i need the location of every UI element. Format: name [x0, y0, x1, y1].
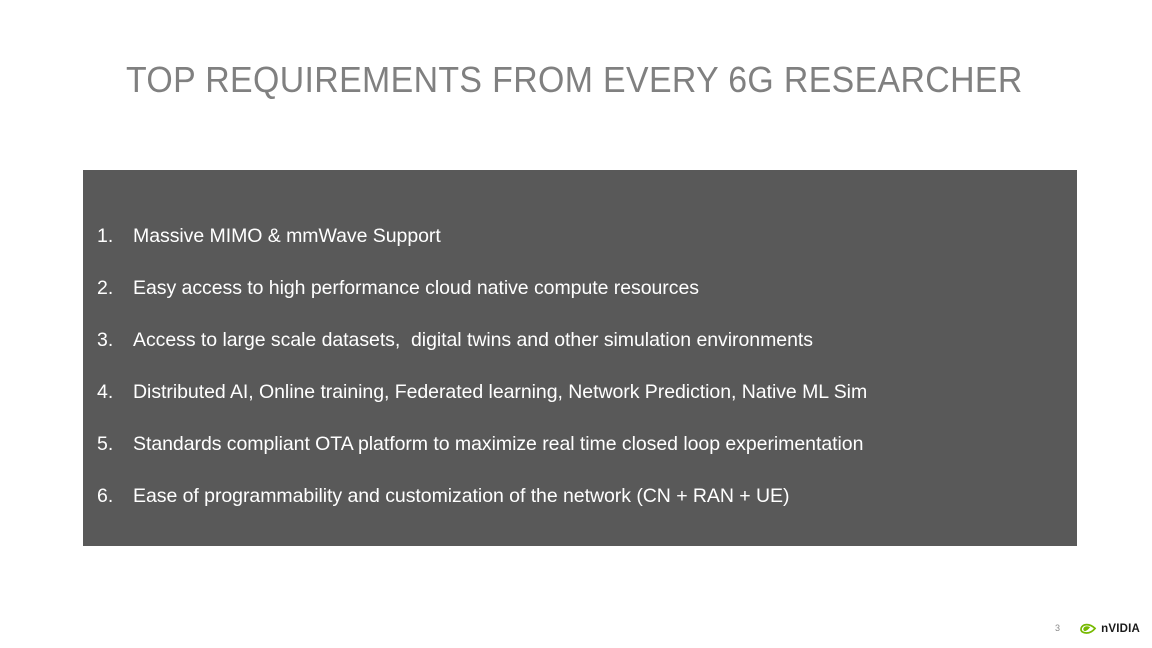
nvidia-logo: nVIDIA	[1078, 620, 1140, 637]
list-item-number: 5.	[97, 418, 133, 470]
list-item: 2. Easy access to high performance cloud…	[97, 262, 1071, 314]
list-item: 1. Massive MIMO & mmWave Support	[97, 210, 1071, 262]
list-item: 4. Distributed AI, Online training, Fede…	[97, 366, 1071, 418]
nvidia-wordmark: nVIDIA	[1101, 623, 1140, 635]
list-item-number: 2.	[97, 262, 133, 314]
page-title: TOP REQUIREMENTS FROM EVERY 6G RESEARCHE…	[126, 57, 972, 103]
page-number: 3	[1055, 623, 1060, 634]
list-item-label: Access to large scale datasets, digital …	[133, 314, 813, 366]
list-item-label: Easy access to high performance cloud na…	[133, 262, 699, 314]
list-item-number: 3.	[97, 314, 133, 366]
list-item-number: 6.	[97, 470, 133, 522]
list-item-number: 1.	[97, 210, 133, 262]
list-item: 6. Ease of programmability and customiza…	[97, 470, 1071, 522]
list-item: 3. Access to large scale datasets, digit…	[97, 314, 1071, 366]
list-item-label: Distributed AI, Online training, Federat…	[133, 366, 867, 418]
list-item-number: 4.	[97, 366, 133, 418]
nvidia-wordmark-rest: VIDIA	[1108, 623, 1140, 635]
list-item-label: Ease of programmability and customizatio…	[133, 470, 789, 522]
list-item-label: Standards compliant OTA platform to maxi…	[133, 418, 863, 470]
nvidia-eye-icon	[1078, 622, 1098, 636]
slide-canvas: TOP REQUIREMENTS FROM EVERY 6G RESEARCHE…	[0, 0, 1152, 648]
requirements-panel: 1. Massive MIMO & mmWave Support 2. Easy…	[83, 170, 1077, 546]
requirements-list: 1. Massive MIMO & mmWave Support 2. Easy…	[97, 210, 1071, 522]
slide-footer: 3 nVIDIA	[0, 604, 1152, 648]
list-item-label: Massive MIMO & mmWave Support	[133, 210, 441, 262]
list-item: 5. Standards compliant OTA platform to m…	[97, 418, 1071, 470]
